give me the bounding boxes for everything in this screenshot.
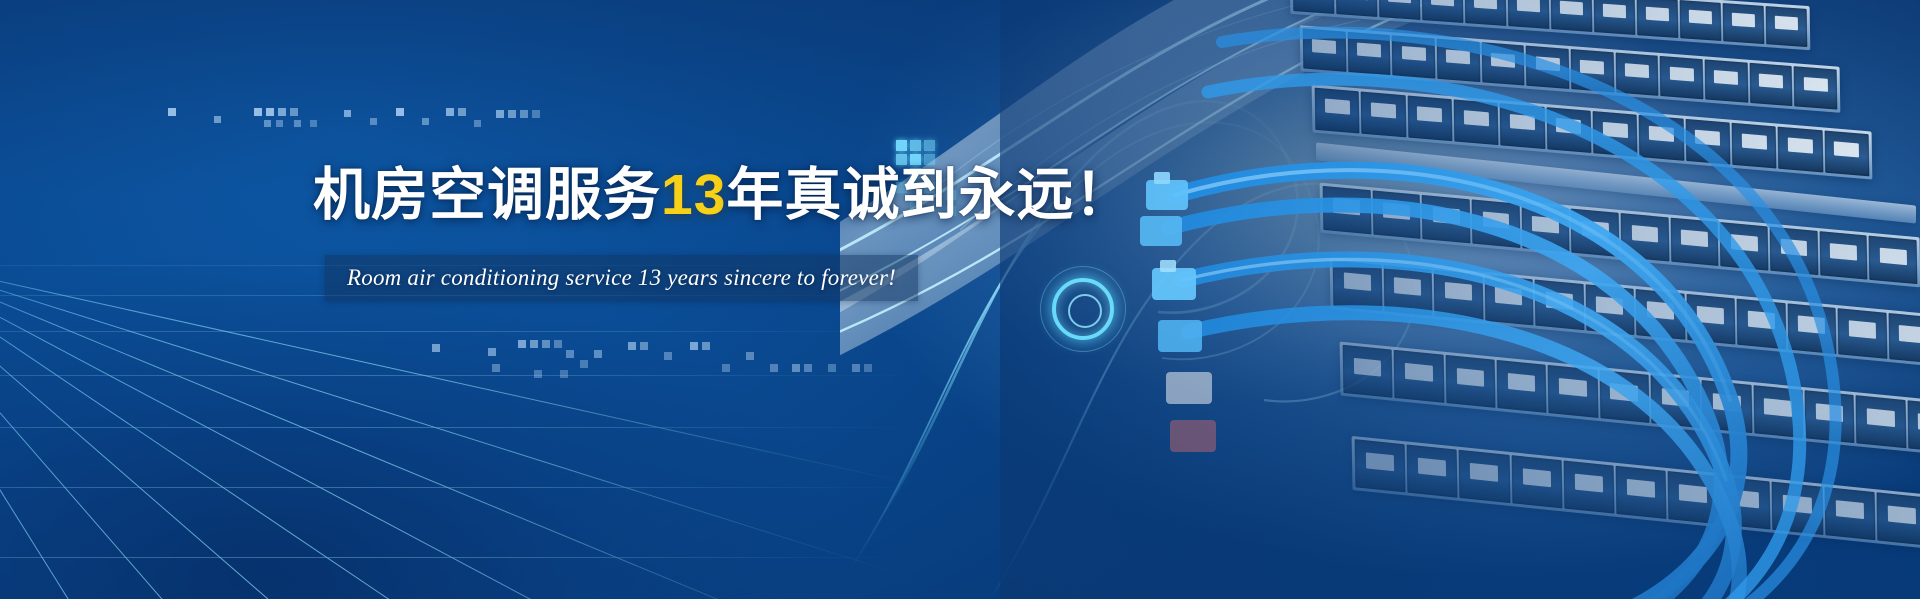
banner-copy: 机房空调服务13年真诚到永远！ Room air conditioning se…: [0, 0, 1920, 599]
page-title: 机房空调服务13年真诚到永远！: [313, 166, 1132, 225]
subtitle-text: Room air conditioning service 13 years s…: [347, 265, 896, 290]
headline-suffix: 年真诚到永远！: [726, 163, 1132, 227]
hero-banner: 机房空调服务13年真诚到永远！ Room air conditioning se…: [0, 0, 1920, 599]
headline-highlight-years: 13: [661, 163, 726, 227]
subtitle-box: Room air conditioning service 13 years s…: [325, 255, 918, 301]
headline-prefix: 机房空调服务: [313, 163, 661, 227]
